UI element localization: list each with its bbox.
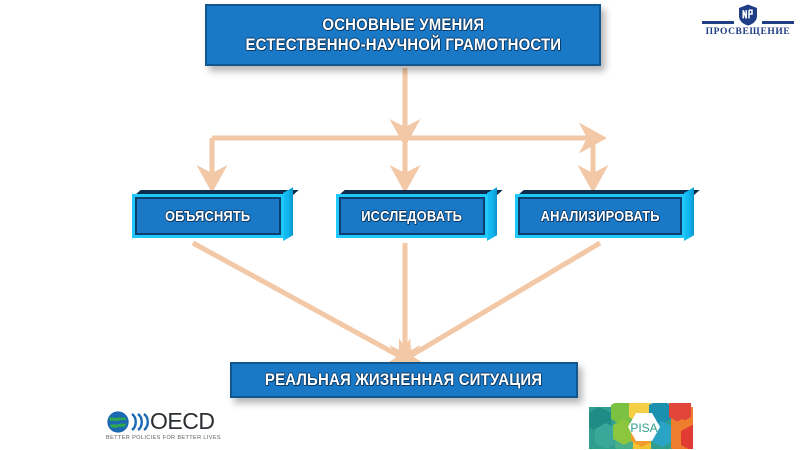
situation-label: РЕАЛЬНАЯ ЖИЗНЕННАЯ СИТУАЦИЯ [265, 370, 542, 390]
box-face: ИССЛЕДОВАТЬ [336, 194, 488, 238]
shield-icon [738, 4, 758, 26]
box-side-bevel [283, 187, 293, 241]
connector-analyze-to-situation [407, 243, 600, 358]
pisa-logo: PISA [589, 403, 693, 449]
logo-rule-right [762, 21, 794, 24]
skill-box-investigate: ИССЛЕДОВАТЬ [336, 190, 488, 238]
header-line-2: ЕСТЕСТВЕННО-НАУЧНОЙ ГРАМОТНОСТИ [245, 35, 561, 55]
oecd-wordmark: OECD [150, 408, 214, 435]
oecd-tagline: BETTER POLICIES FOR BETTER LIVES [106, 435, 221, 441]
header-line-1: ОСНОВНЫЕ УМЕНИЯ [245, 15, 561, 35]
header-text: ОСНОВНЫЕ УМЕНИЯ ЕСТЕСТВЕННО-НАУЧНОЙ ГРАМ… [245, 15, 561, 54]
skill-box-analyze: АНАЛИЗИРОВАТЬ [515, 190, 685, 238]
skill-label-investigate: ИССЛЕДОВАТЬ [362, 208, 463, 225]
slide-canvas: ОСНОВНЫЕ УМЕНИЯ ЕСТЕСТВЕННО-НАУЧНОЙ ГРАМ… [0, 0, 800, 450]
skill-label-explain: ОБЪЯСНЯТЬ [165, 208, 250, 225]
publisher-wordmark: ПРОСВЕЩЕНИЕ [700, 27, 796, 37]
box-face: ОБЪЯСНЯТЬ [132, 194, 284, 238]
publisher-logo: ПРОСВЕЩЕНИЕ [700, 4, 796, 44]
situation-box: РЕАЛЬНАЯ ЖИЗНЕННАЯ СИТУАЦИЯ [230, 362, 578, 398]
box-side-bevel [684, 187, 694, 241]
header-box: ОСНОВНЫЕ УМЕНИЯ ЕСТЕСТВЕННО-НАУЧНОЙ ГРАМ… [205, 4, 601, 66]
swoosh-icon [131, 413, 151, 431]
skill-box-explain: ОБЪЯСНЯТЬ [132, 190, 284, 238]
globe-icon [106, 410, 130, 434]
pisa-wordmark: PISA [630, 421, 657, 435]
connector-explain-to-situation [193, 243, 403, 358]
box-face: АНАЛИЗИРОВАТЬ [515, 194, 685, 238]
box-side-bevel [487, 187, 497, 241]
oecd-logo: OECD BETTER POLICIES FOR BETTER LIVES [106, 408, 230, 446]
logo-rule-left [702, 21, 734, 24]
skill-label-analyze: АНАЛИЗИРОВАТЬ [540, 208, 659, 225]
